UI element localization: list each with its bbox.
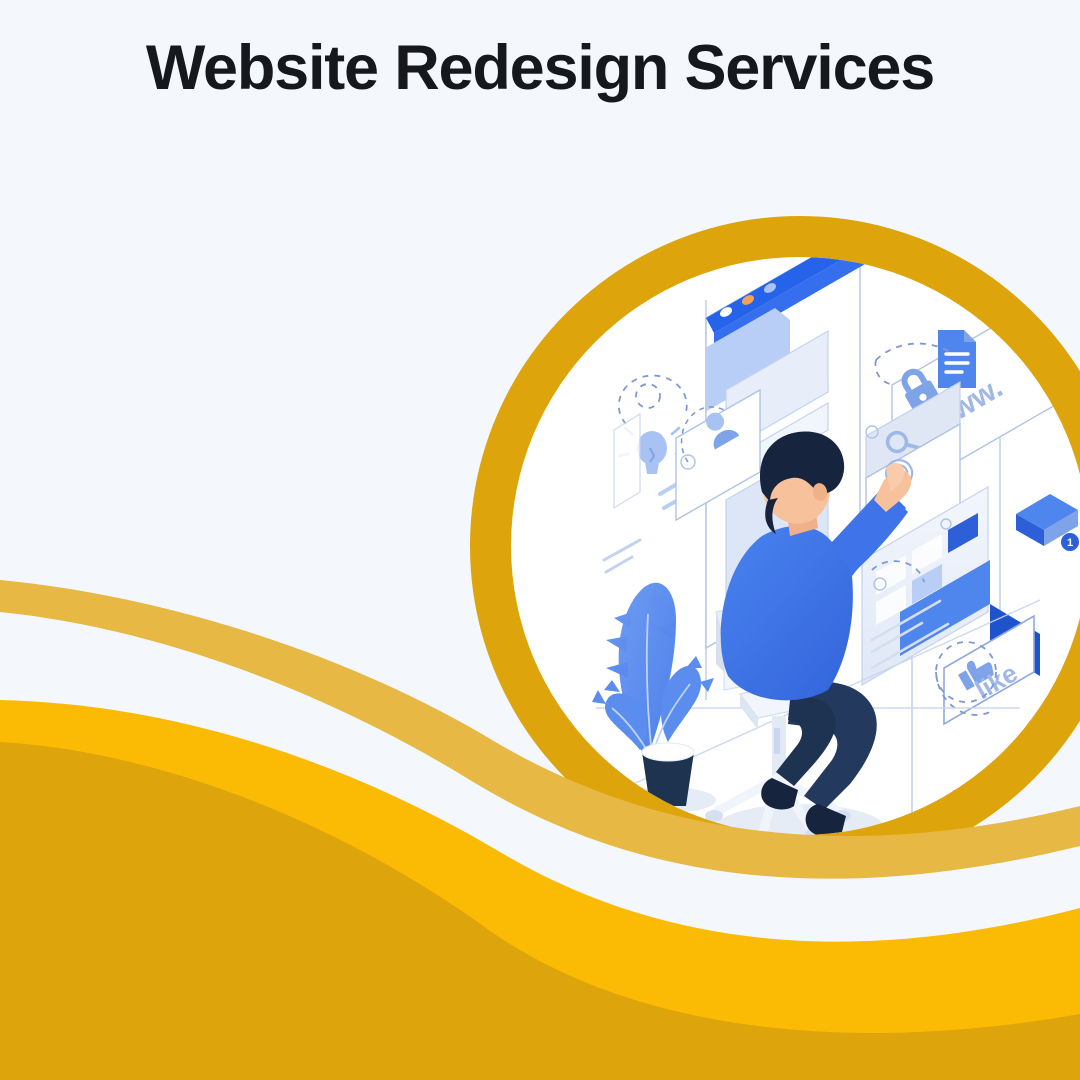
wave-decoration-layer bbox=[0, 0, 1080, 1080]
poster-canvas: www. bbox=[0, 0, 1080, 1080]
